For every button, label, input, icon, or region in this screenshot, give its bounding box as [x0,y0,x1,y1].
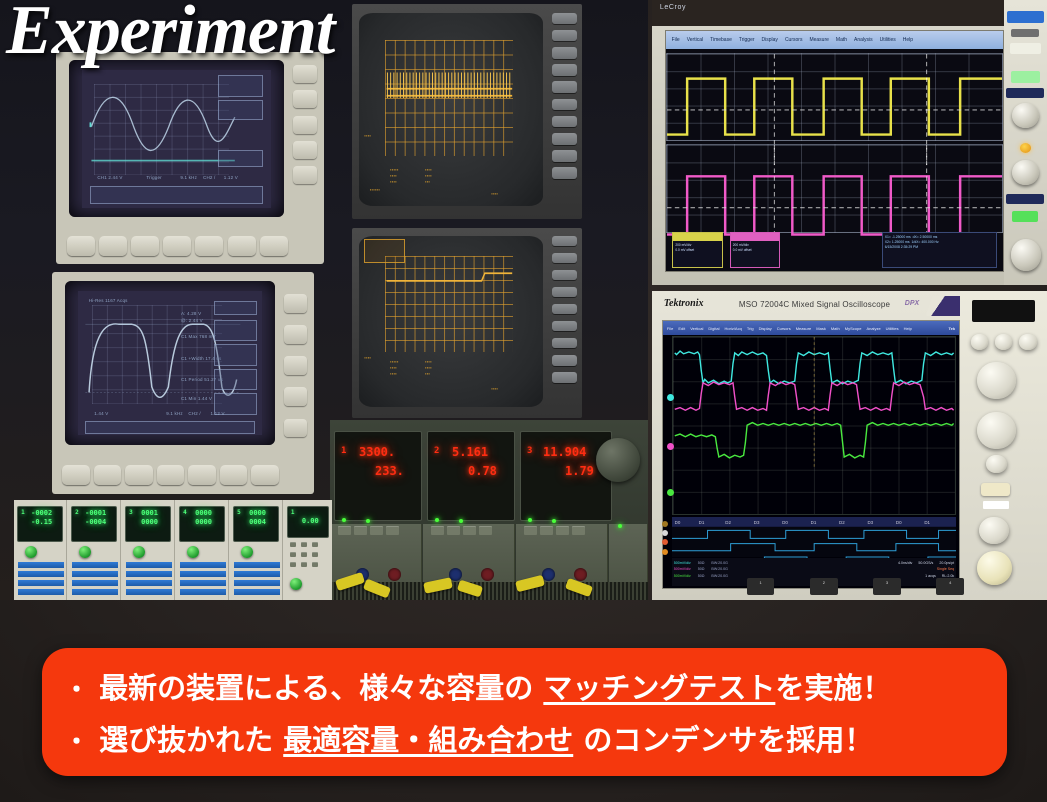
ctrl-power-knob[interactable] [290,578,302,590]
tektronix-display-window [972,300,1035,322]
tek-knob-small-1[interactable] [971,334,988,349]
lecroy-menu-math[interactable]: Math [836,37,847,43]
crt-bottom-key-3[interactable] [131,236,159,255]
crt-softkey-5[interactable] [293,166,317,184]
amber-key-t9[interactable] [552,150,577,162]
page-title: Experiment [6,0,334,66]
psu-led-1 [342,518,346,522]
amber-screen-bottom: ▪▪▪▪ ▪▪▪▪▪▪▪▪▪▪▪▪▪ ▪▪▪▪▪▪▪▪▪▪▪ ▪▪▪▪ [359,236,543,407]
lecroy-cursor-readout: X1= -1.25000 ms dX= 2.50000 ms X2= 1.250… [882,232,997,268]
amber-dense-waveform [385,40,514,156]
crt-screen-bottom: Hi-Res 1167 Acqs A: 4.28 V @: 2.44 V C1 … [78,291,262,436]
crt2-bottom-key-6[interactable] [220,465,248,485]
crt-menu-box-b [218,100,263,119]
dc-power-analyzer-rack: 1 3300. 233. 2 5.161 0.78 3 11.904 1.79 [330,420,648,600]
callout-line2-pre: 選び抜かれた [89,723,283,757]
tek-button-single[interactable] [983,501,1009,509]
tek-menu-horizacq[interactable]: Horiz/Acq [724,326,741,331]
psu-btn-1[interactable] [338,526,351,535]
tektronix-chassis: Tektronix MSO 72004C Mixed Signal Oscill… [652,291,1047,600]
load-controller-screen: 1 0.00 [287,506,329,538]
load-2-sub: -0004 [85,518,106,526]
crt-cursor-a: A: 4.28 V [181,311,201,316]
lecroy-ch2-descriptor: 200 mV/div 0.0 mV offset [730,232,781,268]
svg-text:D2: D2 [725,521,731,526]
tek-meas-ch3-imp: 50Ω [698,574,705,578]
load-bar-3c [126,580,172,586]
ctrl-btn-1[interactable] [290,542,296,547]
psu-terminal-pos-2[interactable] [481,568,494,581]
lecroy-menu-utilities[interactable]: Utilities [880,37,896,43]
tektronix-menubar[interactable]: File Edit Vertical Digital Horiz/Acq Tri… [663,321,959,335]
load-bar-5b [234,571,280,577]
crt2-softkey-5[interactable] [284,419,308,438]
lecroy-panel-btn-a[interactable] [1011,29,1039,38]
tek-meas-ch2-bw: BW:20.0G [711,567,728,571]
tek-meas-ch2-imp: 50Ω [698,567,705,571]
psu-led-2 [435,518,439,522]
amber-params-bottom: ▪▪▪▪▪▪▪▪▪▪▪▪▪ [390,359,399,377]
amber-key-t2[interactable] [552,30,577,42]
callout-line1-pre: 最新の装置による、様々な容量の [89,671,543,705]
load-bar-5d [234,589,280,595]
load-bar-3a [126,562,172,568]
load-4-id: 4 [183,509,187,516]
psu-led-5 [366,519,370,523]
crt2-bottom-key-4[interactable] [157,465,185,485]
storage-oscilloscope-bottom: ▪▪▪▪ ▪▪▪▪▪▪▪▪▪▪▪▪▪ ▪▪▪▪▪▪▪▪▪▪▪ ▪▪▪▪ [352,228,582,418]
lecroy-screen: File Vertical Timebase Trigger Display C… [665,30,1005,272]
lecroy-knob-vertical[interactable] [1012,103,1039,129]
load-screen-4: 4 0000 0000 [179,506,225,542]
load-bar-2a [72,562,118,568]
crt-readout-left-2: 1.44 V [94,411,108,416]
meter-1-sub: 233. [375,464,404,478]
tek-channel-button-2[interactable]: 2 [810,578,838,595]
amber-rate-bottom: ▪▪▪▪ [491,386,498,392]
load-screen-2: 2 -0001 -0004 [71,506,117,542]
tek-d1-marker[interactable] [662,530,668,536]
lecroy-chassis: LeCroy File Vertical Timebase Trigger Di… [652,0,1047,285]
load-module-1: 1 -0002 -0.15 [14,500,67,600]
crt-softkey-high[interactable] [214,320,256,342]
load-screen-1: 1 -0002 -0.15 [17,506,63,542]
load-3-id: 3 [129,509,133,516]
photo-lab-bench-collage: CH1 2.44 V Trigger 9.1 kHz CH2 / 1.12 V [0,0,648,600]
lecroy-knob-trigger[interactable] [1011,239,1041,270]
crt2-bottom-key-3[interactable] [125,465,153,485]
svg-text:D1: D1 [698,521,704,526]
tek-menu-vertical[interactable]: Vertical [690,326,703,331]
load-ctrl-id: 1 [291,509,295,516]
crt-readout-level-2: 1.12 V [210,411,224,416]
tek-menu-mask[interactable]: Mask [816,326,826,331]
ctrl-btn-2[interactable] [301,542,307,547]
psu-terminal-pos-1[interactable] [388,568,401,581]
svg-text:D1: D1 [924,521,930,526]
tek-knob-small-2[interactable] [995,334,1012,349]
load-4-sub: 0000 [195,518,212,526]
load-bar-4a [180,562,226,568]
tek-knob-multipurpose[interactable] [977,551,1012,585]
tektronix-screen: File Edit Vertical Digital Horiz/Acq Tri… [662,320,960,589]
meter-channel-1: 1 3300. 233. [334,431,422,521]
amber-key-b5[interactable] [552,304,577,314]
load-bar-4c [180,580,226,586]
crt-softkey-3[interactable] [293,116,317,134]
crt-bottom-key-6[interactable] [228,236,256,255]
tek-logo-corner: Tek [948,326,955,331]
load-bar-4b [180,571,226,577]
lecroy-ch1-descriptor: 200 mV/div 0.0 mV offset [672,232,723,268]
tek-menu-math[interactable]: Math [831,326,840,331]
psu-btn-11[interactable] [556,526,569,535]
amber-key-b3[interactable] [552,270,577,280]
meter-1-id: 1 [341,446,346,456]
lecroy-menu-analysis[interactable]: Analysis [854,37,873,43]
ctrl-btn-6[interactable] [312,552,318,557]
amber-key-t3[interactable] [552,47,577,59]
crt-screen-top: CH1 2.44 V Trigger 9.1 kHz CH2 / 1.12 V [82,70,271,208]
tek-channel-button-4[interactable]: 4 [936,578,964,595]
tek-d2-marker[interactable] [662,539,668,545]
amber-status-top: ▪▪▪▪▪▪ [370,187,380,193]
tek-meas-ch3: 500mV/div [674,574,691,578]
tek-ch1-marker[interactable] [667,394,674,401]
psu-btn-8[interactable] [479,526,492,535]
crt-bottom-key-4[interactable] [163,236,191,255]
load-knob-5[interactable] [241,546,253,558]
tek-meas-ch1-bw: BW:20.0G [711,561,728,565]
crt-meas-min: C1 Min 1.44 V [181,396,212,401]
tektronix-front-panel [960,291,1047,600]
tek-trig-res: 20.0ps/pt [939,561,954,565]
load-knob-2[interactable] [79,546,91,558]
tek-trig-timediv: 4.0ns/div [898,561,912,565]
amber-key-b9[interactable] [552,372,577,382]
bullet-glyph-1: ・ [64,675,89,704]
crt-readout-time-2: 9.1 kHz [166,411,183,416]
amber-flat-waveform [385,256,514,352]
lecroy-ch1-scale: 200 mV/div [675,243,691,247]
crt-header-acqs: Hi-Res 1167 Acqs [89,298,128,303]
crt-bottom-key-2[interactable] [99,236,127,255]
slide-root: CH1 2.44 V Trigger 9.1 kHz CH2 / 1.12 V [0,0,1047,802]
lecroy-menu-help[interactable]: Help [903,37,913,43]
crt-readout-trigger: Trigger [146,175,162,180]
meter-1-main: 3300. [359,445,395,459]
analog-oscilloscope-top: CH1 2.44 V Trigger 9.1 kHz CH2 / 1.12 V [56,52,324,264]
tek-channel-button-1[interactable]: 1 [747,578,775,595]
amber-key-t7[interactable] [552,116,577,128]
meter-2-id: 2 [434,446,439,456]
ctrl-btn-5[interactable] [301,552,307,557]
amber-key-b6[interactable] [552,321,577,331]
load-1-sub: -0.15 [31,518,52,526]
amber-params2-top: ▪▪▪▪▪▪▪▪▪▪▪ [425,167,432,185]
load-module-5: 5 0000 0004 [230,500,283,600]
tek-menu-measure[interactable]: Measure [796,326,812,331]
psu-led-3 [528,518,532,522]
crt-bottom-key-7[interactable] [260,236,288,255]
tek-meas-ch2: 500mV/div [674,567,691,571]
load-2-main: -0001 [85,509,106,517]
amber-params2-bottom: ▪▪▪▪▪▪▪▪▪▪▪ [425,359,432,377]
psu-btn-6[interactable] [447,526,460,535]
tek-channel-button-3[interactable]: 3 [873,578,901,595]
crt-bottom-key-5[interactable] [195,236,223,255]
tek-menu-utilities[interactable]: Utilities [886,326,899,331]
meter-3-id: 3 [527,446,532,456]
load-screen-3: 3 0001 0000 [125,506,171,542]
psu-terminal-pos-3[interactable] [574,568,587,581]
crt-readout-ch1: CH1 2.44 V [97,175,122,180]
amber-key-b1[interactable] [552,236,577,246]
psu-led-6 [459,519,463,523]
lecroy-timestamp: 6/15/2008 2:35:29 PM [885,245,918,249]
crt2-softkey-2[interactable] [284,325,308,344]
tek-menu-edit[interactable]: Edit [678,326,685,331]
load-3-sub: 0000 [141,518,158,526]
tektronix-brand-logo: Tektronix [664,298,704,309]
crt2-bottom-key-1[interactable] [62,465,90,485]
meter-3-main: 11.904 [543,445,586,459]
load-module-4: 4 0000 0000 [176,500,229,600]
amber-key-t8[interactable] [552,133,577,145]
load-5-main: 0000 [249,509,266,517]
callout-line2-post: のコンデンサを採用！ [573,723,873,757]
amber-key-t1[interactable] [552,13,577,25]
load-1-id: 1 [21,509,25,516]
crt2-bottom-key-2[interactable] [94,465,122,485]
load-knob-4[interactable] [187,546,199,558]
meter-channel-3: 3 11.904 1.79 [520,431,612,521]
lecroy-panel-tab-top[interactable] [1007,11,1043,22]
crt-bezel-bottom: Hi-Res 1167 Acqs A: 4.28 V @: 2.44 V C1 … [65,281,275,445]
tektronix-waveform-area [672,336,956,515]
psu-btn-10[interactable] [540,526,553,535]
lecroy-ch2-offset: 0.0 mV offset [733,248,752,252]
amber-key-b8[interactable] [552,355,577,365]
crt-bottom-key-1[interactable] [67,236,95,255]
load-controller-module: 1 0.00 [284,500,332,600]
load-bar-1c [18,580,64,586]
load-screen-5: 5 0000 0004 [233,506,279,542]
lecroy-menu-vertical[interactable]: Vertical [687,37,703,43]
tek-knob-small-3[interactable] [1019,334,1036,349]
tektronix-dpx-label: DPX [905,300,919,307]
lecroy-menu-trigger[interactable]: Trigger [739,37,755,43]
tek-menu-help[interactable]: Help [904,326,912,331]
electronic-load-rack: 1 -0002 -0.15 2 -0001 -0004 [14,500,332,600]
amber-key-t10[interactable] [552,167,577,179]
svg-text:D0: D0 [896,521,902,526]
crt-menu-title-box [214,301,256,315]
psu-btn-4[interactable] [386,526,399,535]
meter-2-sub: 0.78 [468,464,497,478]
lecroy-front-panel [1004,0,1047,285]
lecroy-menu-measure[interactable]: Measure [809,37,828,43]
svg-text:D2: D2 [839,521,845,526]
tek-trig-acqs: 1 acqs [925,574,936,578]
svg-text:D0: D0 [674,521,680,526]
crt2-softkey-1[interactable] [284,294,308,313]
amber-key-b2[interactable] [552,253,577,263]
crt-bezel-top: CH1 2.44 V Trigger 9.1 kHz CH2 / 1.12 V [69,60,283,217]
rack-rotary-knob[interactable] [596,438,640,482]
amber-key-b7[interactable] [552,338,577,348]
lecroy-indicator-amber [1020,143,1031,153]
psu-btn-9[interactable] [524,526,537,535]
amber-rate-top: ▪▪▪▪ [491,191,498,197]
lecroy-cursor-dx: dX= 2.50000 ms [913,235,938,239]
load-bar-5c [234,580,280,586]
psu-btn-3[interactable] [370,526,383,535]
amber-screen-top: ▪▪▪▪ ▪▪▪▪▪▪▪▪▪▪▪▪▪ ▪▪▪▪▪▪▪▪▪▪▪ ▪▪▪▪▪▪ ▪▪… [359,13,543,207]
callout-line1-underlined: マッチングテスト [543,671,775,705]
tek-knob-horizontal-scale[interactable] [977,412,1015,449]
crt-cursor-at: @: 2.44 V [181,318,203,323]
tek-menu-digital[interactable]: Digital [708,326,719,331]
load-1-main: -0002 [31,509,52,517]
lecroy-grid-ch2 [666,144,1004,233]
load-bar-1d [18,589,64,595]
load-module-3: 3 0001 0000 [122,500,175,600]
lecroy-menu-cursors[interactable]: Cursors [785,37,803,43]
ctrl-btn-7[interactable] [290,562,296,567]
load-bar-2b [72,571,118,577]
load-bar-5a [234,562,280,568]
callout-line-2: ・ 選び抜かれた 最適容量・組み合わせ のコンデンサを採用！ [64,717,989,759]
load-3-main: 0001 [141,509,158,517]
load-5-id: 5 [237,509,241,516]
amber-key-t5[interactable] [552,81,577,93]
svg-text:D0: D0 [782,521,788,526]
psu-btn-12[interactable] [572,526,585,535]
amber-key-t6[interactable] [552,99,577,111]
tek-d3-marker[interactable] [662,549,668,555]
tek-menu-cursors[interactable]: Cursors [777,326,791,331]
ctrl-btn-9[interactable] [312,562,318,567]
lecroy-cursor-x2: X2= 1.25000 ms [885,240,910,244]
load-bar-2c [72,580,118,586]
svg-text:D1: D1 [810,521,816,526]
tek-knob-vertical-scale[interactable] [977,362,1015,399]
crt2-softkey-3[interactable] [284,356,308,375]
crt-menu-box-a [218,75,263,97]
ctrl-btn-4[interactable] [290,552,296,557]
lecroy-panel-led-green [1011,71,1041,82]
amber-menu-box-bottom [364,239,404,263]
load-module-2: 2 -0001 -0004 [68,500,121,600]
crt-softkey-bar [90,186,264,204]
amber-key-t4[interactable] [552,64,577,76]
load-bar-2d [72,589,118,595]
lecroy-brand: LeCroy [660,4,686,11]
photo-lecroy-oscilloscope: LeCroy File Vertical Timebase Trigger Di… [652,0,1047,285]
psu-btn-5[interactable] [431,526,444,535]
lecroy-panel-led-run [1012,211,1038,222]
lecroy-menu-display[interactable]: Display [762,37,778,43]
load-knob-1[interactable] [25,546,37,558]
lecroy-ch2-scale: 200 mV/div [733,243,749,247]
crt-readout-ch2: CH2 / [203,175,216,180]
lecroy-panel-btn-b[interactable] [1010,43,1041,54]
lecroy-cursor-invdx: 1/dX= 400.000 Hz [911,240,938,244]
psu-btn-2[interactable] [354,526,367,535]
crt-menu-box-c [218,150,263,167]
tek-menu-file[interactable]: File [667,326,673,331]
tek-button-run-stop[interactable] [981,483,1011,497]
photo-tektronix-oscilloscope: Tektronix MSO 72004C Mixed Signal Oscill… [652,291,1047,600]
tektronix-analog-waveforms [673,337,955,469]
load-bar-1a [18,562,64,568]
crt2-bottom-key-5[interactable] [188,465,216,485]
tek-menu-display[interactable]: Display [759,326,772,331]
crt-softkey-max[interactable] [214,369,256,391]
amber-key-b4[interactable] [552,287,577,297]
amber-params-top: ▪▪▪▪▪▪▪▪▪▪▪▪▪ [390,167,399,185]
psu-led-7 [552,519,556,523]
tek-trig-mode: Single Seq [937,567,954,571]
crt-readout-level: 1.12 V [224,175,238,180]
load-bar-1b [18,571,64,577]
tek-menu-trig[interactable]: Trig [747,326,754,331]
tek-knob-bezel[interactable] [986,455,1007,474]
crt-readout-ch2-2: CH2 / [188,411,201,416]
lecroy-knob-horizontal[interactable] [1012,160,1039,186]
crt-softkey-low[interactable] [214,344,256,366]
crt-softkey-2[interactable] [293,90,317,108]
crt2-bottom-key-7[interactable] [251,465,279,485]
lecroy-menu-file[interactable]: File [672,37,680,43]
lecroy-menu-timebase[interactable]: Timebase [710,37,732,43]
lecroy-panel-label-bar [1006,88,1044,98]
lecroy-cursor-x1: X1= -1.25000 ms [885,235,911,239]
crt-softkey-4[interactable] [293,141,317,159]
psu-terminal-neg-3[interactable] [542,568,555,581]
lecroy-top-bar: LeCroy [652,0,1047,26]
ctrl-btn-3[interactable] [312,542,318,547]
lecroy-ch1-offset: 0.0 mV offset [675,248,694,252]
lecroy-panel-label-bar-2 [1006,194,1044,204]
tek-meas-ch3-bw: BW:20.0G [711,574,728,578]
callout-line1-post: を実施！ [775,671,891,705]
tek-menu-analyze[interactable]: Analyze [866,326,880,331]
load-knob-3[interactable] [133,546,145,558]
crt-softkey-bar-2 [85,421,255,434]
crt2-softkey-4[interactable] [284,387,308,406]
callout-line-1: ・ 最新の装置による、様々な容量の マッチングテストを実施！ [64,665,989,707]
tek-menu-myscope[interactable]: MyScope [845,326,862,331]
meter-2-main: 5.161 [452,445,488,459]
amber-label-corner-bottom: ▪▪▪▪ [364,355,371,361]
meter-3-sub: 1.79 [565,464,594,478]
load-bar-4d [180,589,226,595]
psu-led-4 [618,524,622,528]
psu-btn-7[interactable] [463,526,476,535]
ctrl-btn-8[interactable] [301,562,307,567]
tek-meas-ch1: 500mV/div [674,561,691,565]
tek-meas-ch1-imp: 50Ω [698,561,705,565]
callout-line2-underlined: 最適容量・組み合わせ [283,723,573,757]
tek-knob-trigger-level[interactable] [979,517,1009,545]
amber-label-corner-top: ▪▪▪▪ [364,133,371,139]
load-5-sub: 0004 [249,518,266,526]
lecroy-grid-ch1 [666,53,1004,142]
tek-d0-marker[interactable] [662,521,668,527]
lecroy-menubar[interactable]: File Vertical Timebase Trigger Display C… [666,31,1004,49]
